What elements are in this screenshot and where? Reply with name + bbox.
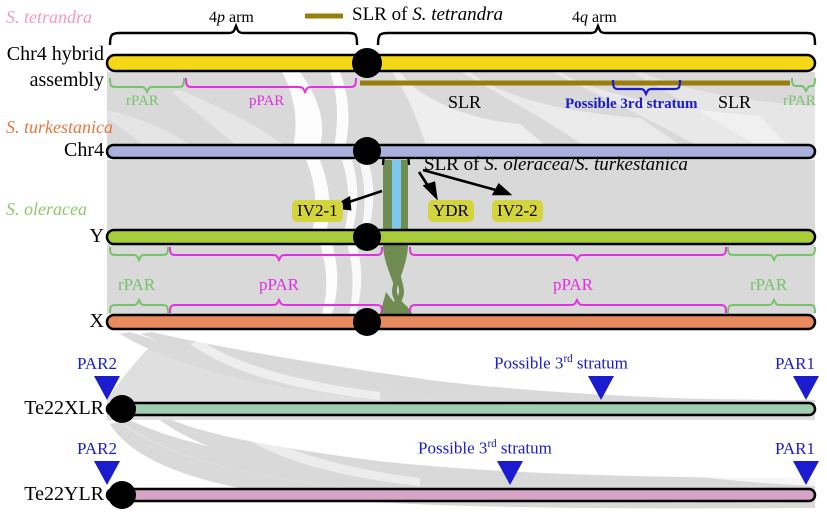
triangle-ylr-par1 — [793, 461, 819, 485]
triangle-xlr-par1 — [793, 376, 819, 400]
synteny-figure: SLR of S. tetrandra S. tetrandra S. turk… — [0, 0, 827, 517]
label-ylr-par2: PAR2 — [77, 440, 117, 457]
triangle-xlr-stratum — [588, 376, 614, 400]
triangle-ylr-par2 — [94, 461, 120, 485]
label-ylr-possible-3rd-stratum: Possible 3rd stratum — [418, 439, 552, 457]
par-triangles-layer — [0, 0, 827, 517]
triangle-ylr-stratum — [497, 461, 523, 485]
triangle-xlr-par2 — [94, 376, 120, 400]
label-xlr-par1: PAR1 — [775, 355, 815, 372]
label-ylr-par1: PAR1 — [775, 440, 815, 457]
label-xlr-possible-3rd-stratum: Possible 3rd stratum — [494, 354, 628, 372]
